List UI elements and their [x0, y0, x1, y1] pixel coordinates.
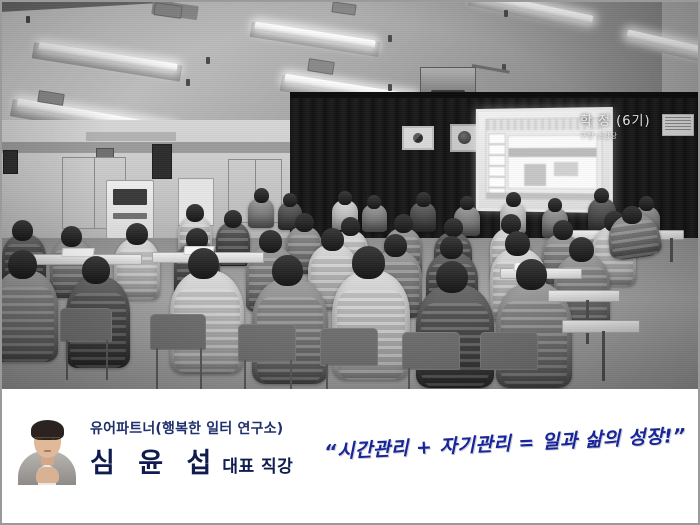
sprinkler-head [504, 10, 508, 17]
presenter-role: 대표 직강 [222, 457, 293, 477]
attendee-head [8, 250, 37, 279]
chair-leg [156, 348, 158, 389]
emblem-disc [458, 131, 471, 144]
chair-leg [290, 360, 292, 389]
paper-handout [61, 248, 94, 257]
portrait-eye-right [51, 438, 55, 440]
attendee-head [516, 259, 547, 290]
portrait-hands [36, 467, 59, 483]
taeguk-symbol [413, 133, 423, 143]
attendee-head [259, 230, 282, 253]
attendee-head [548, 198, 562, 212]
attendee-head [126, 223, 148, 245]
attendee-head [272, 255, 303, 286]
attendee-head [338, 191, 352, 205]
sprinkler-head [206, 57, 210, 64]
chair [402, 332, 460, 370]
attendee-head [186, 204, 204, 222]
attendee-head [188, 248, 219, 279]
attendee-head [384, 234, 407, 257]
wall-speaker [152, 144, 172, 179]
attendee-head [436, 261, 468, 293]
attendee-head [341, 217, 360, 236]
desk-leg [670, 238, 673, 262]
sprinkler-head [388, 84, 392, 91]
attendee-head [367, 195, 381, 209]
desk [562, 320, 640, 333]
slide-block [554, 162, 578, 176]
chair [320, 328, 378, 366]
attendee-head [352, 246, 385, 279]
notice-line [665, 126, 691, 127]
attendee-head [444, 218, 463, 237]
desk-leg [602, 331, 605, 381]
slide-block [524, 164, 546, 186]
presenter-block: 유어파트너(행복한 일터 연구소) 심 윤 섭대표 직강 [16, 413, 293, 485]
notice-line [665, 123, 691, 124]
portrait-eye-left [38, 438, 42, 440]
presenter-portrait [16, 413, 78, 485]
attendee-head [416, 192, 431, 207]
attendee [2, 270, 58, 362]
chair [480, 332, 538, 370]
chair-leg [326, 364, 328, 389]
chair-leg [106, 340, 108, 380]
seminar-photo: 학 정 (6기) 구청 소강당 [2, 2, 700, 389]
attendee-head [553, 220, 573, 240]
chair-leg [244, 360, 246, 389]
attendee-head [460, 196, 474, 210]
attendee-head [594, 188, 609, 203]
presenter-name-line: 심 윤 섭대표 직강 [90, 441, 293, 480]
sprinkler-head [186, 79, 190, 86]
presenter-organization: 유어파트너(행복한 일터 연구소) [90, 418, 293, 438]
chair-leg [66, 340, 68, 380]
presenter-text: 유어파트너(행복한 일터 연구소) 심 윤 섭대표 직강 [90, 418, 293, 480]
slide-header-band [509, 148, 597, 157]
chair [150, 314, 206, 350]
notice-line [665, 120, 691, 121]
attendee-head [295, 213, 314, 232]
slide-document [508, 135, 598, 190]
chair [238, 324, 296, 362]
wall-signage [86, 132, 176, 141]
desk [548, 290, 620, 302]
chair [60, 308, 112, 342]
chair-leg [408, 368, 410, 389]
attendee-head [283, 193, 297, 207]
sprinkler-head [388, 35, 392, 42]
attendee-head [639, 196, 654, 211]
caption-bar: 유어파트너(행복한 일터 연구소) 심 윤 섭대표 직강 “시간관리 + 자기관… [2, 389, 700, 523]
slide-status-bar [486, 192, 601, 199]
presenter-name: 심 윤 섭 [90, 448, 218, 479]
venue-banner-line1: 학 정 (6기) [580, 110, 651, 129]
portrait-mouth [44, 450, 51, 452]
chair-leg [200, 348, 202, 389]
slide-thumbnails [488, 133, 505, 194]
korean-flag [402, 126, 434, 150]
attendee-head [506, 192, 521, 207]
notice-line [665, 129, 691, 130]
attendee-head [394, 214, 413, 233]
attendee-head [321, 228, 344, 251]
seminar-quote: “시간관리 + 자기관리 = 일과 삶의 성장!” [324, 421, 687, 464]
venue-banner-line2: 구청 소강당 [580, 131, 651, 141]
attendee-head [82, 256, 110, 284]
attendee-head [254, 188, 269, 203]
attendee-head [61, 226, 82, 247]
attendee-head [505, 231, 530, 256]
wall-notice [662, 114, 694, 136]
attendee-head [440, 236, 463, 259]
attendee-head [622, 206, 642, 224]
venue-banner: 학 정 (6기) 구청 소강당 [580, 110, 651, 141]
attendee-head [569, 237, 594, 262]
attendee-head [12, 220, 33, 241]
photo-caption-card: 학 정 (6기) 구청 소강당 [0, 0, 700, 525]
sprinkler-head [26, 16, 30, 23]
door-divider [94, 158, 95, 228]
wall-speaker [3, 150, 18, 174]
attendee-head [224, 210, 242, 228]
notice-line [665, 117, 691, 118]
